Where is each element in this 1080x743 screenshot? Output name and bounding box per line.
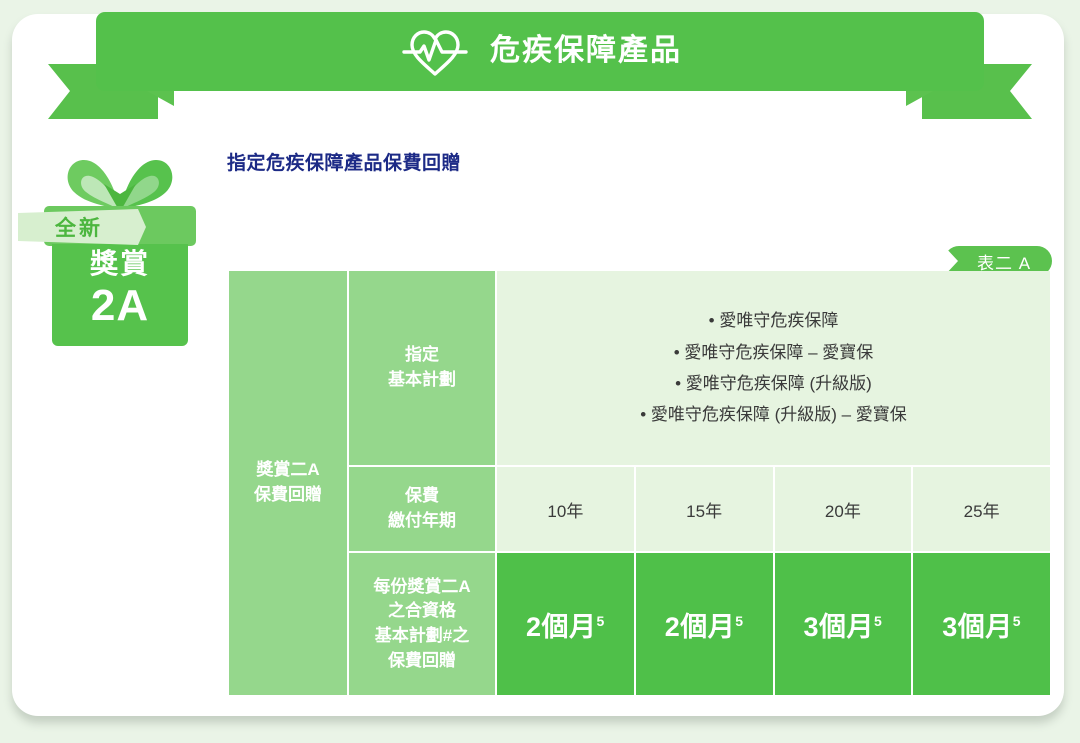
premium-term-cell: 20年 [775,467,912,551]
footnote-mark: 5 [874,613,882,629]
refund-value-cell: 3個月5 [775,553,912,695]
row-header-line1: 指定 [349,343,495,368]
premium-term-cell: 25年 [913,467,1050,551]
plan-item: • 愛唯守危疾保障 [507,305,1040,336]
row-label-line2: 保費回贈 [229,483,347,508]
section-subtitle: 指定危疾保障產品保費回贈 [227,148,461,175]
row-label-line1: 獎賞二A [229,458,347,483]
gift-badge: 獎賞 2A 全新 [34,146,206,346]
footnote-mark: 5 [596,613,604,629]
refund-value-cell: 3個月5 [913,553,1050,695]
banner-title: 危疾保障產品 [490,36,682,68]
footnote-mark: 5 [1013,613,1021,629]
page-root: 危疾保障產品 獎賞 2A 全新 指定危疾保障產品保費回贈 表二 A 獎賞二A [0,0,1080,743]
refund-value: 2個月 [665,612,736,642]
row-header-designated-plan: 指定 基本計劃 [349,271,495,465]
row-header-premium-term: 保費 繳付年期 [349,467,495,551]
table-row: 保費 繳付年期 10年 15年 20年 25年 [229,467,1050,551]
refund-value: 3個月 [942,612,1013,642]
footnote-mark: 5 [735,613,743,629]
heart-pulse-icon [398,26,472,78]
ribbon-body: 危疾保障產品 [96,12,984,91]
gift-new-tag-label: 全新 [55,212,109,242]
refund-value: 3個月 [803,612,874,642]
refund-value: 2個月 [526,612,597,642]
row-label-cell: 獎賞二A 保費回贈 [229,271,347,695]
table-row: 獎賞二A 保費回贈 指定 基本計劃 • 愛唯守危疾保障 • 愛唯守危疾保障 – … [229,271,1050,465]
designated-plan-list: • 愛唯守危疾保障 • 愛唯守危疾保障 – 愛寶保 • 愛唯守危疾保障 (升級版… [497,271,1050,465]
premium-term-cell: 10年 [497,467,634,551]
plan-item: • 愛唯守危疾保障 (升級版) [507,368,1040,399]
row-header-line2: 基本計劃 [349,368,495,393]
refund-value-cell: 2個月5 [497,553,634,695]
row-header-line1: 保費 [349,484,495,509]
row-header-line2: 繳付年期 [349,509,495,534]
row-header-line4: 保費回贈 [349,649,495,674]
ribbon-banner: 危疾保障產品 [0,0,1080,130]
table-row: 每份獎賞二A 之合資格 基本計劃#之 保費回贈 2個月5 2個月5 3個月5 3… [229,553,1050,695]
refund-value-cell: 2個月5 [636,553,773,695]
row-header-line1: 每份獎賞二A [349,575,495,600]
plan-item: • 愛唯守危疾保障 – 愛寶保 [507,337,1040,368]
gift-label-line1: 獎賞 [52,246,188,278]
gift-label: 獎賞 2A [52,246,188,328]
row-header-premium-refund: 每份獎賞二A 之合資格 基本計劃#之 保費回贈 [349,553,495,695]
premium-term-cell: 15年 [636,467,773,551]
row-header-line3: 基本計劃#之 [349,624,495,649]
plan-item: • 愛唯守危疾保障 (升級版) – 愛寶保 [507,399,1040,430]
gift-new-tag: 全新 [18,209,146,245]
row-header-line2: 之合資格 [349,599,495,624]
gift-label-line2: 2A [52,278,188,328]
benefit-table: 獎賞二A 保費回贈 指定 基本計劃 • 愛唯守危疾保障 • 愛唯守危疾保障 – … [227,269,1052,697]
